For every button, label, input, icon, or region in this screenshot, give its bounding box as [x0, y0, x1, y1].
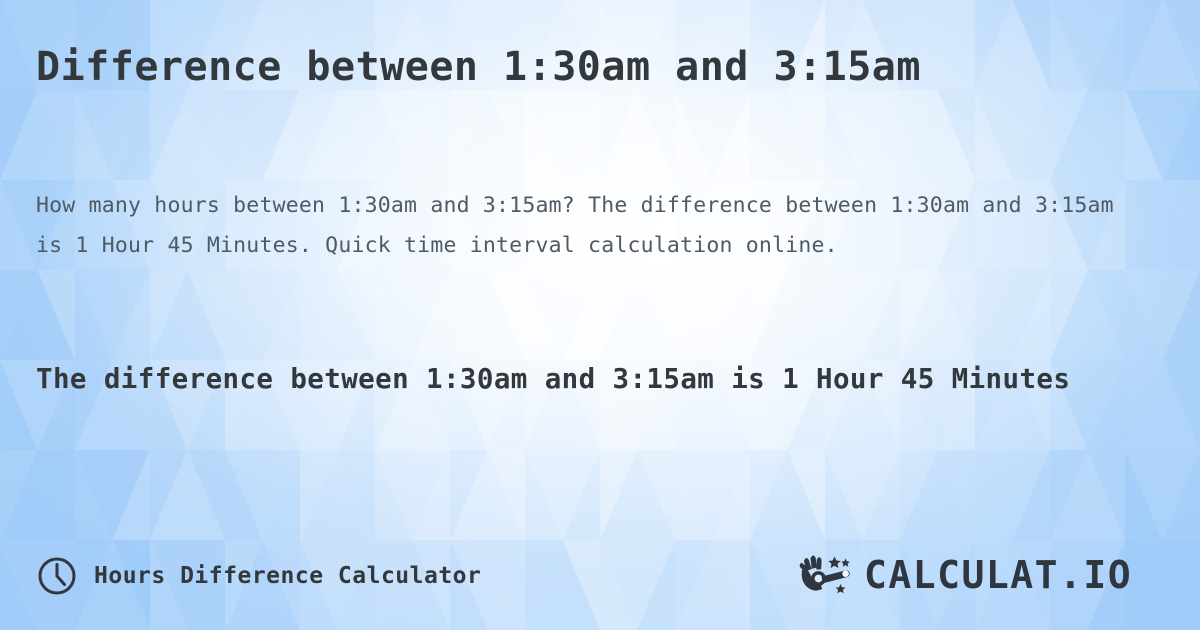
hand-magic-wand-icon [794, 551, 858, 601]
site-logo[interactable]: CALCULAT.IO [794, 551, 1164, 601]
card-content: Difference between 1:30am and 3:15am How… [0, 0, 1200, 630]
footer-label: Hours Difference Calculator [94, 563, 481, 589]
card-footer: Hours Difference Calculator [36, 548, 1164, 604]
page-title: Difference between 1:30am and 3:15am [36, 44, 1166, 91]
clock-icon [36, 555, 78, 597]
footer-brand: Hours Difference Calculator [36, 555, 481, 597]
logo-text: CALCULAT.IO [864, 553, 1132, 597]
logo-wordmark: CALCULAT.IO [864, 553, 1164, 599]
result-heading: The difference between 1:30am and 3:15am… [36, 355, 1126, 403]
intro-paragraph: How many hours between 1:30am and 3:15am… [36, 186, 1114, 266]
share-card: Difference between 1:30am and 3:15am How… [0, 0, 1200, 630]
